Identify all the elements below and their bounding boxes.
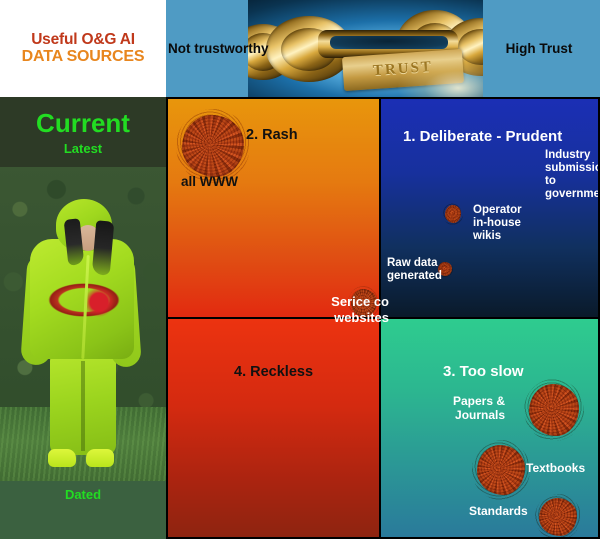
quadrant-reckless[interactable]: 4. Reckless — [168, 319, 379, 537]
item-label-operator-wikis: Operator in-house wikis — [473, 204, 522, 243]
scribble-blob-standards — [539, 498, 577, 536]
scribble-blob-papers-journals — [529, 384, 579, 436]
item-label-all-www: all WWW — [181, 174, 238, 189]
scribble-blob-all-www — [182, 115, 244, 177]
item-label-textbooks: Textbooks — [526, 462, 585, 476]
quadrant-rash[interactable]: 2. Rash all WWW — [168, 99, 379, 317]
item-label-service-co-websites: Serice co websites — [321, 294, 389, 326]
chain-trust-image: TRUST — [248, 0, 483, 97]
figure-shoe-left — [48, 449, 76, 467]
axis-label-dated-text: Dated — [65, 487, 101, 502]
quadrant-too-slow-title: 3. Too slow — [443, 363, 524, 380]
slide-title: Useful O&G AI DATA SOURCES — [0, 0, 166, 97]
axis-label-latest-text: Latest — [64, 142, 102, 155]
scribble-blob-operator-wikis — [445, 205, 461, 223]
axis-label-current: Current Latest — [0, 97, 166, 167]
operator-line2: in-house — [473, 217, 522, 230]
axis-label-current-text: Current — [36, 110, 130, 136]
quadrant-reckless-title: 4. Reckless — [234, 364, 313, 380]
axis-label-not-trustworthy-text: Not trustworthy — [168, 41, 269, 56]
service-line2: websites — [321, 310, 389, 326]
operator-line1: Operator — [473, 204, 522, 217]
scribble-blob-textbooks — [477, 445, 525, 495]
quadrant-too-slow[interactable]: 3. Too slow Papers & Journals Textbooks … — [381, 319, 598, 537]
rawdata-line1: Raw data — [387, 257, 442, 270]
slide-title-line2: DATA SOURCES — [22, 48, 145, 66]
axis-label-high-trust: High Trust — [484, 0, 594, 97]
industry-line2: submissions — [545, 162, 598, 175]
slide-canvas: TRUST Useful O&G AI DATA SOURCES Not tru… — [0, 0, 600, 539]
header: TRUST Useful O&G AI DATA SOURCES Not tru… — [0, 0, 600, 97]
currency-axis-panel: Current Latest Dated — [0, 97, 166, 539]
item-label-standards: Standards — [469, 505, 528, 519]
axis-label-high-trust-text: High Trust — [506, 41, 573, 56]
slide-title-line1: Useful O&G AI — [31, 31, 135, 48]
rawdata-line2: generated — [387, 270, 442, 283]
person-photo — [0, 163, 166, 493]
service-line1: Serice co — [321, 294, 389, 310]
papers-line1: Papers & — [453, 395, 505, 409]
item-label-industry-submissions: Industry submissions to government — [545, 149, 598, 201]
chain-bar-hole-icon — [330, 36, 448, 49]
quadrant-deliberate-prudent[interactable]: 1. Deliberate - Prudent Industry submiss… — [381, 99, 598, 317]
papers-line2: Journals — [453, 409, 505, 423]
figure-shoe-right — [86, 449, 114, 467]
operator-line3: wikis — [473, 230, 522, 243]
industry-line3: to government — [545, 175, 598, 201]
item-label-papers-journals: Papers & Journals — [453, 395, 505, 422]
industry-line1: Industry — [545, 149, 598, 162]
axis-label-not-trustworthy: Not trustworthy — [168, 0, 253, 97]
item-label-raw-data: Raw data generated — [387, 257, 442, 283]
quadrant-deliberate-title: 1. Deliberate - Prudent — [403, 128, 562, 145]
axis-label-dated: Dated — [0, 481, 166, 539]
figure-leg-seam — [81, 361, 85, 451]
quadrant-rash-title: 2. Rash — [246, 127, 298, 143]
